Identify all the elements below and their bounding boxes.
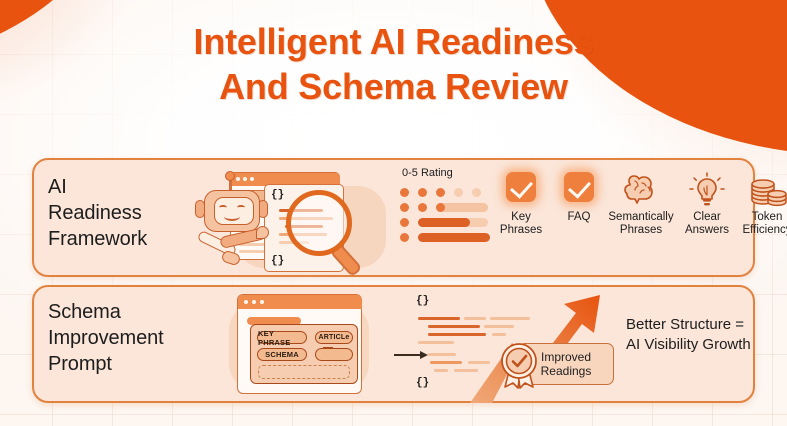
metric-token-efficiency[interactable]: Token Efficiency (734, 172, 787, 237)
code-brace-bottom: {} (271, 255, 284, 267)
infographic-canvas: Intelligent AI Readiness And Schema Revi… (0, 0, 787, 426)
rosette-check-icon (496, 341, 542, 389)
card-title-schema: Schema Improvement Prompt (48, 299, 164, 377)
metric-label: Semantically Phrases (603, 211, 679, 237)
page-title: Intelligent AI Readiness And Schema Revi… (0, 19, 787, 109)
card-schema-improvement-prompt[interactable]: Schema Improvement Prompt KEY PHRASE ART… (32, 285, 755, 403)
rating-row (400, 203, 494, 212)
metric-faq[interactable]: FAQ (550, 172, 608, 224)
checkmark-icon (502, 172, 540, 208)
schema-fields-box: KEY PHRASE ARTICLe SCHEMA (250, 324, 358, 384)
rating-row (400, 233, 494, 242)
title-line-2: And Schema Review (0, 64, 787, 109)
rating-row (400, 218, 494, 227)
improved-readings-badge[interactable]: Improved Readings (496, 343, 616, 387)
magnifier-icon (286, 190, 376, 276)
metric-icon-list: Key Phrases FAQ Semantically Phrases (492, 172, 750, 272)
tag-schema[interactable]: SCHEMA (257, 348, 307, 361)
metric-label: Clear Answers (678, 211, 736, 237)
illustration-robot-review: {} {} (194, 164, 394, 278)
badge-line-1: Improved (541, 350, 591, 364)
badge-line-2: Readings (541, 364, 592, 378)
metric-semantically-phrases[interactable]: Semantically Phrases (603, 172, 679, 237)
title-line-1: Intelligent AI Readiness (0, 19, 787, 64)
window-titlebar (238, 295, 362, 309)
robot-icon (194, 176, 270, 268)
metric-key-phrases[interactable]: Key Phrases (492, 172, 550, 237)
coins-icon (748, 172, 786, 208)
code-brace-top: {} (271, 189, 284, 201)
code-brace-bottom: {} (416, 377, 429, 389)
card-ai-readiness-framework[interactable]: AI Readiness Framework {} (32, 158, 755, 277)
metric-clear-answers[interactable]: Clear Answers (678, 172, 736, 237)
illustration-schema-window: KEY PHRASE ARTICLe SCHEMA (219, 290, 399, 400)
rating-label: 0-5 Rating (402, 167, 453, 179)
tag-key-phrase[interactable]: KEY PHRASE (257, 331, 307, 344)
tagline-text: Better Structure = AI Visibility Growth (626, 315, 751, 355)
schema-dropzone[interactable] (258, 365, 350, 379)
card-title-framework: AI Readiness Framework (48, 174, 147, 252)
code-brace-top: {} (416, 295, 429, 307)
metric-label: FAQ (550, 211, 608, 224)
tag-article[interactable]: ARTICLe (315, 331, 353, 344)
brain-icon (622, 172, 660, 208)
metric-label: Key Phrases (492, 211, 550, 237)
checkmark-icon (560, 172, 598, 208)
rating-row (400, 188, 494, 197)
metric-label: Token Efficiency (734, 211, 787, 237)
lightbulb-icon (688, 172, 726, 208)
tag-empty[interactable] (315, 348, 353, 361)
